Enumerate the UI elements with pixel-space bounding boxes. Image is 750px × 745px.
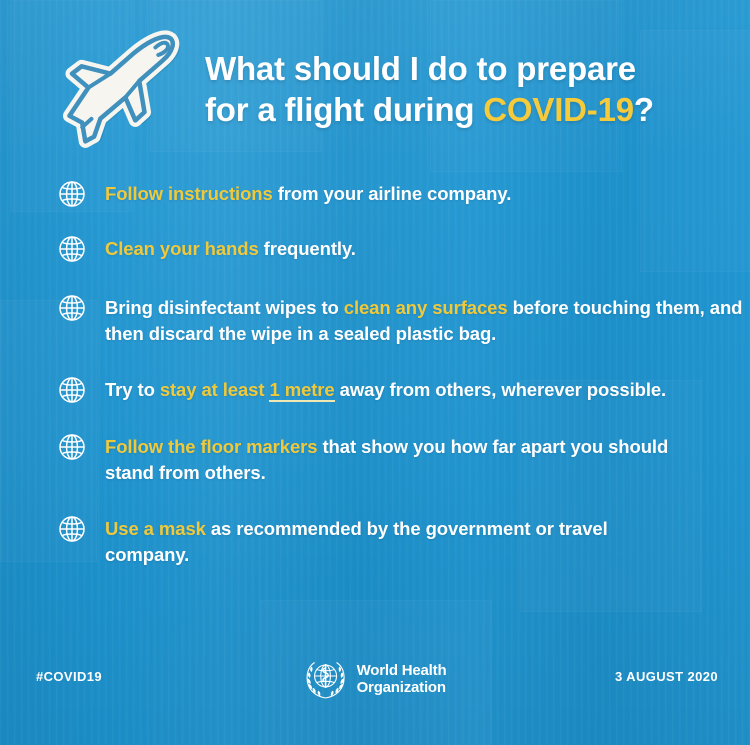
list-item-rest: from your airline company. [273, 183, 512, 204]
list-item-text: Clean your hands frequently. [105, 235, 725, 262]
page-title: What should I do to prepare for a flight… [205, 48, 725, 130]
poster-header: What should I do to prepare for a flight… [0, 26, 750, 156]
list-item: Bring disinfectant wipes to clean any su… [0, 294, 750, 347]
list-item: Follow instructions from your airline co… [0, 180, 750, 208]
list-item-highlight: stay at least [160, 379, 270, 400]
list-item-text: Try to stay at least 1 metre away from o… [105, 376, 735, 403]
title-covid19-highlight: COVID-19 [483, 91, 634, 128]
list-item-rest: away from others, wherever possible. [335, 379, 666, 400]
list-item-underlined: 1 metre [269, 379, 334, 402]
list-item-rest: frequently. [259, 238, 356, 259]
hashtag-covid19: #COVID19 [36, 669, 102, 684]
list-item-text: Follow the floor markers that show you h… [105, 433, 710, 486]
list-item-highlight: Use a mask [105, 518, 206, 539]
list-item-text: Use a mask as recommended by the governm… [105, 515, 685, 568]
globe-icon [58, 235, 86, 263]
list-item-highlight: clean any surfaces [344, 297, 508, 318]
title-line-1: What should I do to prepare [205, 50, 636, 87]
list-item: Try to stay at least 1 metre away from o… [0, 376, 750, 404]
who-name-line-1: World Health [357, 662, 447, 679]
globe-icon [58, 294, 86, 322]
title-line-2-prefix: for a flight during [205, 91, 483, 128]
list-item-highlight: Clean your hands [105, 238, 259, 259]
title-line-2-suffix: ? [634, 91, 654, 128]
list-item: Clean your hands frequently. [0, 235, 750, 263]
list-item-lead: Try to [105, 379, 160, 400]
globe-icon [58, 180, 86, 208]
list-item-highlight: Follow instructions [105, 183, 273, 204]
airplane-icon [47, 30, 207, 155]
who-emblem-icon [304, 657, 348, 701]
list-item-highlight: Follow the floor markers [105, 436, 317, 457]
list-item-text: Follow instructions from your airline co… [105, 180, 725, 207]
globe-icon [58, 515, 86, 543]
list-item: Follow the floor markers that show you h… [0, 433, 750, 486]
poster-footer: #COVID19 [0, 653, 750, 703]
globe-icon [58, 376, 86, 404]
who-name-line-2: Organization [357, 679, 446, 696]
who-wordmark: World Health Organization [357, 662, 447, 696]
publication-date: 3 AUGUST 2020 [615, 669, 718, 684]
list-item-lead: Bring disinfectant wipes to [105, 297, 344, 318]
who-covid19-flight-infographic: What should I do to prepare for a flight… [0, 0, 750, 745]
list-item-text: Bring disinfectant wipes to clean any su… [105, 294, 750, 347]
globe-icon [58, 433, 86, 461]
list-item: Use a mask as recommended by the governm… [0, 515, 750, 568]
who-logo: World Health Organization [304, 657, 447, 701]
advice-list: Follow instructions from your airline co… [0, 180, 750, 568]
